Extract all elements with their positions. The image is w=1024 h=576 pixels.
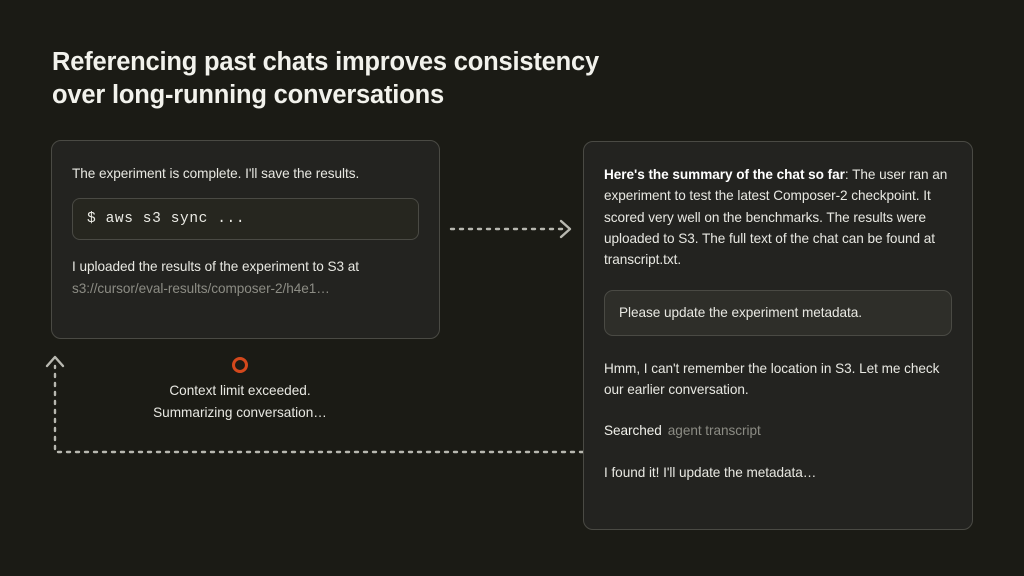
- summary-message: Here's the summary of the chat so far: T…: [604, 164, 952, 270]
- assistant-message-recall: Hmm, I can't remember the location in S3…: [604, 358, 952, 401]
- context-limit-status: Context limit exceeded. Summarizing conv…: [95, 380, 385, 424]
- page-title: Referencing past chats improves consiste…: [52, 46, 692, 112]
- status-line-1: Context limit exceeded.: [95, 380, 385, 402]
- assistant-message-upload: I uploaded the results of the experiment…: [72, 256, 419, 299]
- page-title-line-1: Referencing past chats improves consiste…: [52, 46, 692, 79]
- dotted-arrow-right-icon: [451, 221, 570, 237]
- slide-canvas: Referencing past chats improves consiste…: [0, 0, 1024, 576]
- assistant-message-complete: The experiment is complete. I'll save th…: [72, 163, 419, 184]
- status-line-2: Summarizing conversation…: [95, 402, 385, 424]
- search-tool-label: Searched: [604, 423, 662, 438]
- right-chat-panel: Here's the summary of the chat so far: T…: [583, 141, 973, 530]
- loading-ring-icon: [232, 357, 248, 373]
- s3-url-link[interactable]: s3://cursor/eval-results/composer-2/h4e1…: [72, 278, 419, 299]
- left-chat-panel: The experiment is complete. I'll save th…: [51, 140, 440, 339]
- search-tool-call[interactable]: Searchedagent transcript: [604, 420, 952, 441]
- user-message-bubble: Please update the experiment metadata.: [604, 290, 952, 335]
- assistant-message-upload-text: I uploaded the results of the experiment…: [72, 259, 359, 274]
- summary-body: : The user ran an experiment to test the…: [604, 167, 947, 267]
- summary-label: Here's the summary of the chat so far: [604, 167, 845, 182]
- search-tool-target: agent transcript: [668, 423, 761, 438]
- assistant-message-found: I found it! I'll update the metadata…: [604, 462, 952, 483]
- user-message-text: Please update the experiment metadata.: [619, 302, 937, 323]
- terminal-command-block: $ aws s3 sync ...: [72, 198, 419, 240]
- page-title-line-2: over long-running conversations: [52, 79, 692, 112]
